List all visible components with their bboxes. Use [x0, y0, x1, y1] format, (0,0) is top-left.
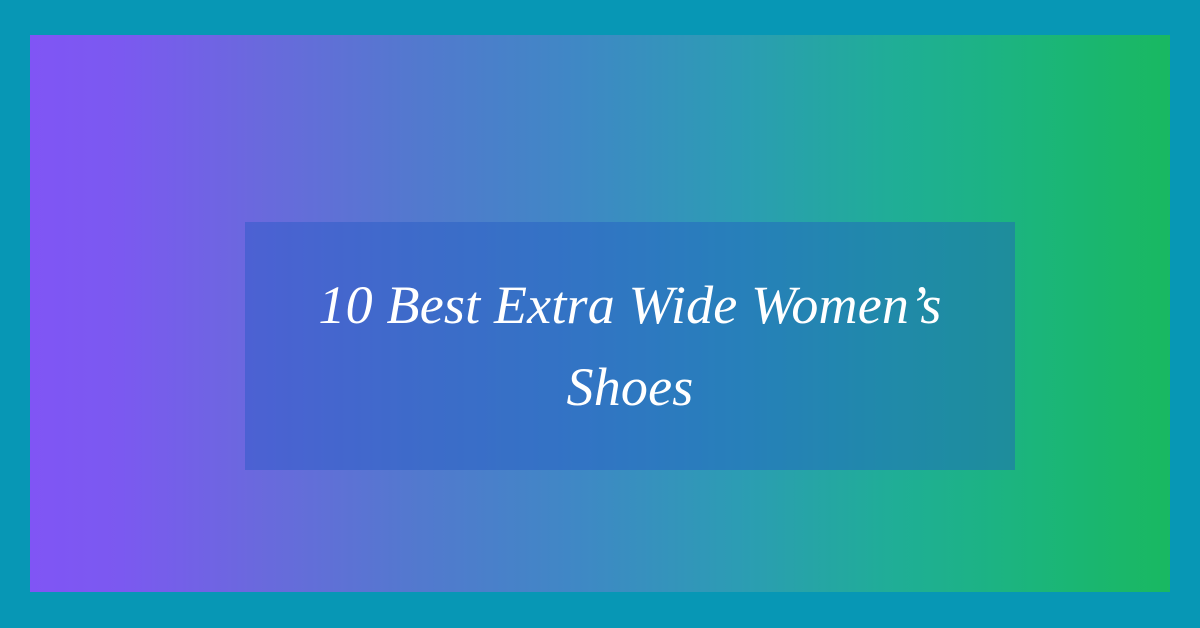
- gradient-background-panel: 10 Best Extra Wide Women’s Shoes: [30, 35, 1170, 592]
- page-title: 10 Best Extra Wide Women’s Shoes: [271, 264, 989, 428]
- title-card-canvas: 10 Best Extra Wide Women’s Shoes: [0, 0, 1200, 628]
- caption-overlay-box: 10 Best Extra Wide Women’s Shoes: [245, 222, 1015, 470]
